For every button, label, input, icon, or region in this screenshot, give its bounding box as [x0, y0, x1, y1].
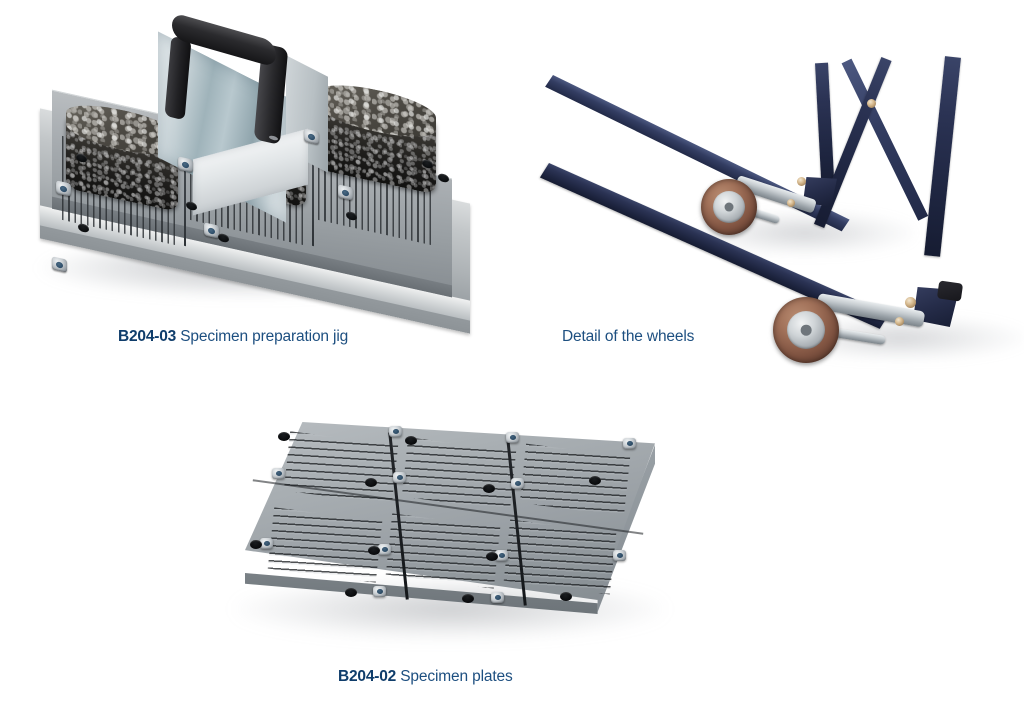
bolt-hole	[278, 432, 290, 441]
foot-cap-front	[937, 280, 963, 301]
bolt-hole	[483, 484, 495, 493]
hex-nut	[393, 472, 406, 483]
bolt-hole	[368, 546, 380, 555]
caption-specimen-plates: B204-02 Specimen plates	[338, 669, 513, 685]
caster-side-bolt	[895, 317, 904, 326]
hex-nut	[491, 592, 504, 603]
caption-description: Detail of the wheels	[562, 328, 694, 345]
caster-side-bolt	[787, 199, 795, 207]
wheel-hub	[713, 191, 745, 223]
figure-specimen-plates	[215, 410, 685, 660]
bolt-hole	[462, 594, 474, 603]
bolt-hole	[589, 476, 601, 485]
caption-specimen-preparation-jig: B204-03 Specimen preparation jig	[118, 329, 348, 345]
figure-detail-of-the-wheels	[545, 35, 1024, 335]
hex-nut	[511, 478, 524, 489]
wheel-hub	[787, 311, 825, 349]
caption-code: B204-02	[338, 668, 396, 685]
caption-code: B204-03	[118, 328, 176, 345]
caster-pivot-bolt	[797, 177, 806, 186]
hex-nut	[623, 438, 636, 449]
frame-leg-right	[924, 56, 961, 257]
caption-detail-of-the-wheels: Detail of the wheels	[562, 329, 694, 345]
caption-description: Specimen preparation jig	[180, 328, 348, 345]
bolt-hole	[560, 592, 572, 601]
hex-nut	[373, 586, 386, 597]
hex-nut	[506, 432, 519, 443]
caption-description: Specimen plates	[400, 668, 512, 685]
caster-pivot-bolt	[905, 297, 916, 308]
hex-nut	[613, 550, 626, 561]
caster-wheel-rear	[701, 171, 821, 245]
handle-leg-left	[165, 36, 192, 121]
caster-wheel-front	[773, 283, 933, 371]
figure-specimen-preparation-jig	[18, 6, 488, 316]
jig-illustration	[18, 6, 488, 316]
grooved-cell-r2c1	[268, 507, 383, 582]
bolt-hole	[345, 588, 357, 597]
bolt-hole	[365, 478, 377, 487]
hex-nut	[389, 426, 402, 437]
bolt-hole	[405, 436, 417, 445]
bolt-hole	[250, 540, 262, 549]
bolt-hole	[486, 552, 498, 561]
cross-brace-bolt	[867, 99, 876, 108]
hex-nut	[272, 468, 285, 479]
black-carry-handle	[166, 24, 286, 128]
